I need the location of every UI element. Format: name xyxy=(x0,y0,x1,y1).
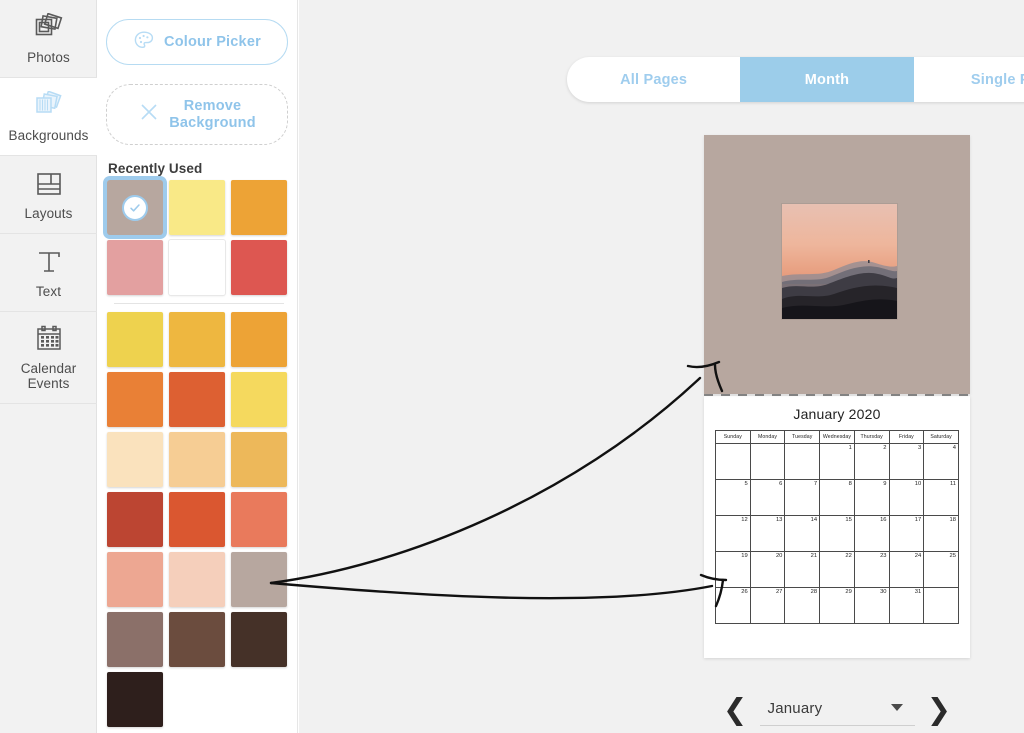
calendar-weekday-5: Friday xyxy=(889,431,924,444)
recent-swatch-1[interactable] xyxy=(169,180,225,235)
calendar-weekday-2: Tuesday xyxy=(785,431,820,444)
colour-picker-button[interactable]: Colour Picker xyxy=(106,19,288,65)
palette-swatch-0[interactable] xyxy=(107,312,163,367)
colour-picker-label: Colour Picker xyxy=(164,34,261,50)
calendar-day-cell[interactable]: 18 xyxy=(924,516,959,552)
remove-background-button[interactable]: Remove Background xyxy=(106,84,288,145)
calendar-day-cell[interactable]: 14 xyxy=(785,516,820,552)
calendar-day-cell[interactable]: 6 xyxy=(750,480,785,516)
calendar-day-cell[interactable]: 16 xyxy=(854,516,889,552)
palette-swatch-16[interactable] xyxy=(169,612,225,667)
calendar-day-cell[interactable]: 30 xyxy=(854,588,889,624)
calendar-day-cell[interactable] xyxy=(924,588,959,624)
calendar-day-cell[interactable]: 19 xyxy=(716,552,751,588)
palette-icon xyxy=(133,30,155,54)
calendar-weekday-1: Monday xyxy=(750,431,785,444)
recent-swatch-2[interactable] xyxy=(231,180,287,235)
left-tool-rail: Photos Backgrounds xyxy=(0,0,97,733)
palette-swatch-10[interactable] xyxy=(169,492,225,547)
calendar-week-row: 12131415161718 xyxy=(716,516,959,552)
sidebar-item-calendar-events[interactable]: Calendar Events xyxy=(0,312,97,404)
sidebar-item-backgrounds[interactable]: Backgrounds xyxy=(0,78,97,156)
calendar-day-cell[interactable]: 7 xyxy=(785,480,820,516)
palette-swatch-2[interactable] xyxy=(231,312,287,367)
backgrounds-icon xyxy=(32,91,66,121)
recent-swatch-5[interactable] xyxy=(231,240,287,295)
calendar-day-cell[interactable]: 26 xyxy=(716,588,751,624)
calendar-body: 1234567891011121314151617181920212223242… xyxy=(716,444,959,624)
calendar-day-cell[interactable]: 27 xyxy=(750,588,785,624)
photo-page-preview[interactable] xyxy=(704,135,970,394)
sidebar-item-label: Backgrounds xyxy=(9,128,89,143)
check-icon xyxy=(122,195,148,221)
sidebar-item-label: Calendar Events xyxy=(0,361,97,391)
tab-single-page[interactable]: Single P xyxy=(914,57,1024,102)
palette-swatch-7[interactable] xyxy=(169,432,225,487)
palette-swatch-5[interactable] xyxy=(231,372,287,427)
calendar-weekday-0: Sunday xyxy=(716,431,751,444)
calendar-day-cell[interactable]: 10 xyxy=(889,480,924,516)
calendar-grid: SundayMondayTuesdayWednesdayThursdayFrid… xyxy=(715,430,959,624)
palette-swatch-9[interactable] xyxy=(107,492,163,547)
view-mode-tabs: All Pages Month Single P xyxy=(567,57,1024,102)
calendar-day-cell[interactable]: 24 xyxy=(889,552,924,588)
calendar-day-cell[interactable]: 11 xyxy=(924,480,959,516)
tab-all-pages[interactable]: All Pages xyxy=(567,57,740,102)
calendar-day-cell[interactable]: 4 xyxy=(924,444,959,480)
prev-month-button[interactable]: ❮ xyxy=(723,695,747,724)
calendar-weekday-4: Thursday xyxy=(854,431,889,444)
calendar-day-cell[interactable]: 28 xyxy=(785,588,820,624)
calendar-week-row: 567891011 xyxy=(716,480,959,516)
panel-divider xyxy=(114,303,284,304)
calendar-day-cell[interactable] xyxy=(716,444,751,480)
canvas-area: All Pages Month Single P xyxy=(299,0,1024,733)
tab-month[interactable]: Month xyxy=(740,57,913,102)
palette-swatch-11[interactable] xyxy=(231,492,287,547)
recent-swatch-3[interactable] xyxy=(107,240,163,295)
calendar-day-cell[interactable]: 25 xyxy=(924,552,959,588)
remove-background-line1: Remove xyxy=(184,98,242,114)
calendar-day-cell[interactable]: 15 xyxy=(820,516,855,552)
chevron-down-icon xyxy=(891,704,903,711)
palette-swatch-13[interactable] xyxy=(169,552,225,607)
calendar-weekday-3: Wednesday xyxy=(820,431,855,444)
palette-swatch-8[interactable] xyxy=(231,432,287,487)
calendar-day-cell[interactable] xyxy=(785,444,820,480)
calendar-day-cell[interactable]: 23 xyxy=(854,552,889,588)
calendar-day-cell[interactable]: 20 xyxy=(750,552,785,588)
page-preview-stack: January 2020 SundayMondayTuesdayWednesda… xyxy=(704,135,970,658)
palette-swatch-3[interactable] xyxy=(107,372,163,427)
layouts-icon xyxy=(32,169,66,199)
palette-swatch-12[interactable] xyxy=(107,552,163,607)
calendar-page-preview[interactable]: January 2020 SundayMondayTuesdayWednesda… xyxy=(704,396,970,658)
sidebar-item-text[interactable]: Text xyxy=(0,234,97,312)
remove-background-line2: Background xyxy=(169,115,256,131)
calendar-day-cell[interactable]: 5 xyxy=(716,480,751,516)
calendar-events-icon xyxy=(32,324,66,354)
recent-swatch-4[interactable] xyxy=(169,240,225,295)
remove-background-label: Remove Background xyxy=(169,98,256,132)
close-x-icon xyxy=(138,101,160,128)
calendar-day-cell[interactable]: 22 xyxy=(820,552,855,588)
palette-swatch-15[interactable] xyxy=(107,612,163,667)
sidebar-item-label: Layouts xyxy=(25,206,73,221)
recently-used-swatch-grid xyxy=(107,180,291,295)
text-icon xyxy=(32,247,66,277)
month-value: January xyxy=(760,700,823,717)
palette-swatch-17[interactable] xyxy=(231,612,287,667)
recent-swatch-0[interactable] xyxy=(107,180,163,235)
sidebar-item-label: Photos xyxy=(27,50,70,65)
palette-swatch-4[interactable] xyxy=(169,372,225,427)
sidebar-item-photos[interactable]: Photos xyxy=(0,0,97,78)
calendar-day-cell[interactable]: 17 xyxy=(889,516,924,552)
calendar-day-cell[interactable]: 31 xyxy=(889,588,924,624)
calendar-day-cell[interactable]: 8 xyxy=(820,480,855,516)
month-dropdown[interactable]: January xyxy=(760,692,915,726)
backgrounds-panel: Colour Picker Remove Background Recently… xyxy=(98,0,298,733)
recently-used-heading: Recently Used xyxy=(108,161,202,176)
sidebar-item-label: Text xyxy=(36,284,61,299)
calendar-weekday-header: SundayMondayTuesdayWednesdayThursdayFrid… xyxy=(716,431,959,444)
calendar-day-cell[interactable]: 1 xyxy=(820,444,855,480)
photos-icon xyxy=(32,13,66,43)
calendar-day-cell[interactable]: 29 xyxy=(820,588,855,624)
calendar-day-cell[interactable]: 13 xyxy=(750,516,785,552)
calendar-day-cell[interactable]: 21 xyxy=(785,552,820,588)
calendar-day-cell[interactable]: 9 xyxy=(854,480,889,516)
palette-swatch-grid xyxy=(107,312,291,727)
calendar-weekday-6: Saturday xyxy=(924,431,959,444)
calendar-day-cell[interactable] xyxy=(750,444,785,480)
month-selector-bar: ❮ January ❯ xyxy=(723,688,951,730)
palette-swatch-1[interactable] xyxy=(169,312,225,367)
calendar-day-cell[interactable]: 2 xyxy=(854,444,889,480)
calendar-day-cell[interactable]: 12 xyxy=(716,516,751,552)
page-photo[interactable] xyxy=(782,204,897,319)
palette-swatch-18[interactable] xyxy=(107,672,163,727)
palette-swatch-14[interactable] xyxy=(231,552,287,607)
palette-swatch-6[interactable] xyxy=(107,432,163,487)
calendar-title: January 2020 xyxy=(715,406,959,422)
next-month-button[interactable]: ❯ xyxy=(927,695,951,724)
calendar-week-row: 1234 xyxy=(716,444,959,480)
calendar-day-cell[interactable]: 3 xyxy=(889,444,924,480)
sidebar-item-layouts[interactable]: Layouts xyxy=(0,156,97,234)
calendar-week-row: 262728293031 xyxy=(716,588,959,624)
app-root: Photos Backgrounds xyxy=(0,0,1024,733)
calendar-week-row: 19202122232425 xyxy=(716,552,959,588)
